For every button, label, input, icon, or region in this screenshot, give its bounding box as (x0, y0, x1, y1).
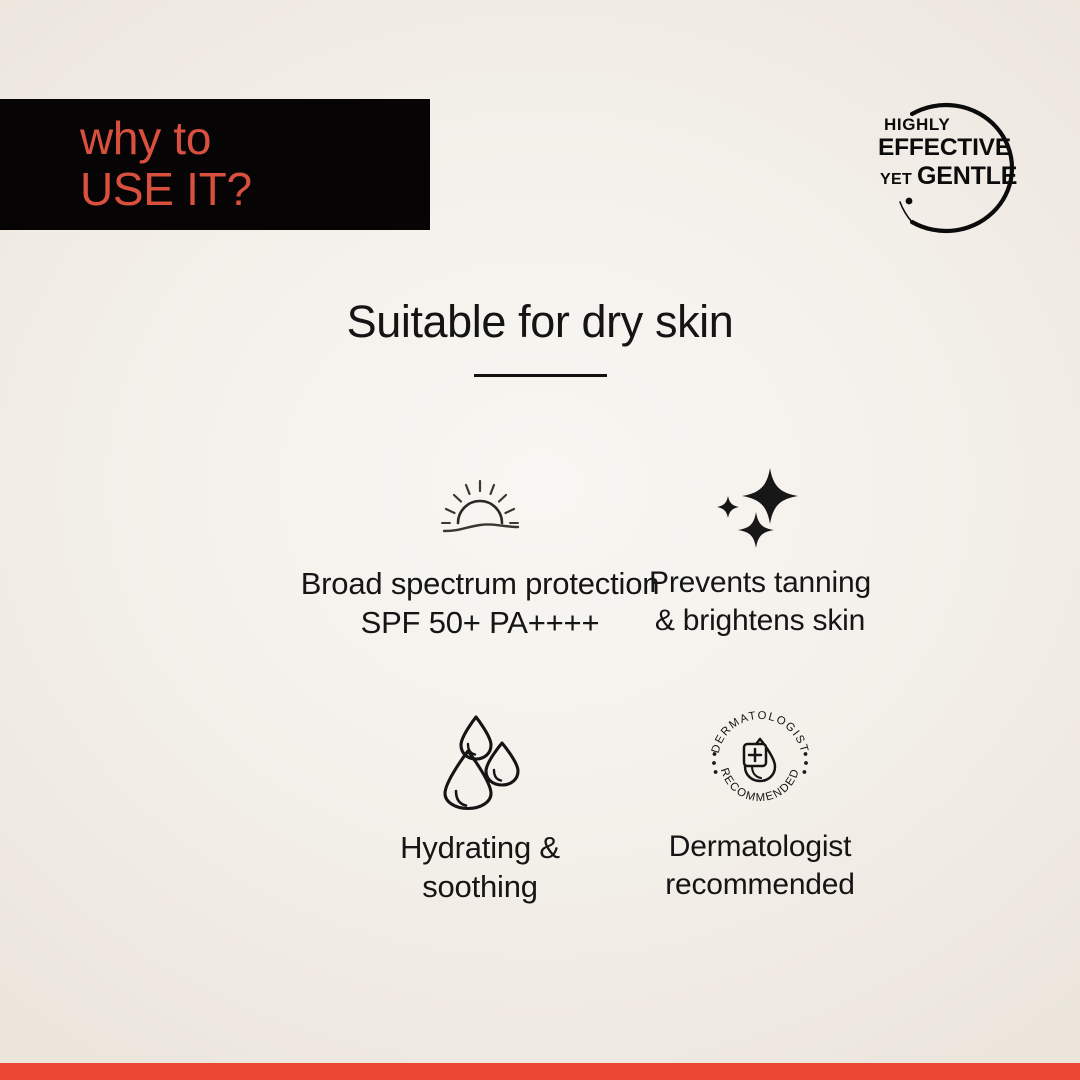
water-drops-icon (432, 710, 528, 812)
sparkles-icon (708, 462, 812, 548)
dermatologist-recommended-icon: DERMATOLOGIST RECOMMENDED (701, 710, 819, 812)
feature-grid: Broad spectrum protection SPF 50+ PA++++… (70, 462, 1010, 906)
highly-effective-yet-gentle-badge: HIGHLY EFFECTIVE YET GENTLE (882, 98, 1032, 238)
header-line-1: why to (80, 115, 430, 162)
header-line-2: USE IT? (80, 165, 430, 215)
poster-canvas: why to USE IT? HIGHLY EFFECTIVE YET GENT… (0, 0, 1080, 1080)
page-title: Suitable for dry skin (0, 296, 1080, 348)
feature-item-dermatologist: DERMATOLOGIST RECOMMENDED (525, 710, 995, 906)
derma-bottom-arc-text: RECOMMENDED (718, 767, 802, 805)
title-divider (474, 374, 607, 377)
feature-label: Dermatologist recommended (665, 828, 855, 904)
svg-text:RECOMMENDED: RECOMMENDED (718, 767, 802, 805)
feature-label: Prevents tanning & brightens skin (649, 564, 871, 640)
badge-ring-icon (882, 98, 1032, 238)
sunrise-icon (430, 462, 530, 548)
why-to-use-it-header: why to USE IT? (0, 99, 430, 230)
feature-item-prevents-tanning: Prevents tanning & brightens skin (525, 462, 995, 642)
bottom-accent-stripe (0, 1063, 1080, 1080)
